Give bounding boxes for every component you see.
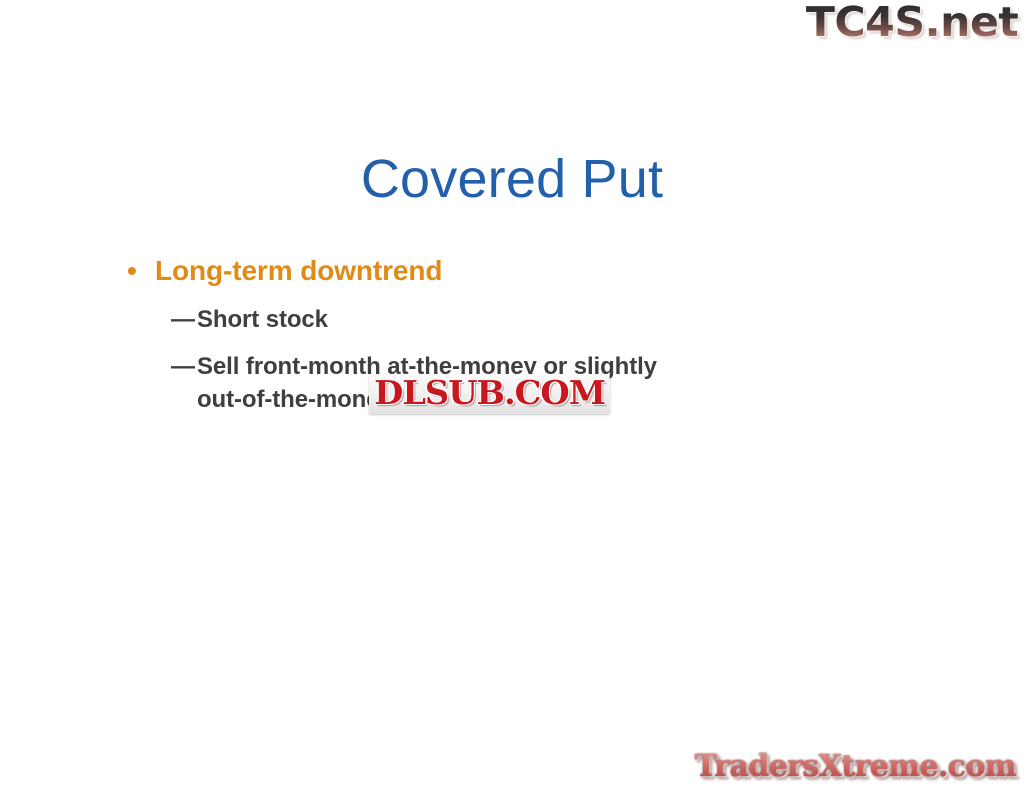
- bullet-level2-label: Short stock: [197, 306, 328, 333]
- bullet-item-level2: — Short stock: [0, 303, 700, 336]
- bullet-dot-icon: •: [127, 253, 137, 289]
- tradersxtreme-logo: TradersXtreme.com: [695, 749, 1016, 785]
- bullet-item-level1: • Long-term downtrend: [0, 253, 700, 289]
- page-title: Covered Put: [0, 148, 1024, 210]
- presentation-slide: TC4S.net Covered Put • Long-term downtre…: [0, 0, 1024, 791]
- tc4s-logo: TC4S.net: [806, 2, 1018, 43]
- dlsub-watermark: DLSUB.COM: [369, 374, 610, 414]
- em-dash-icon: —: [171, 303, 193, 336]
- em-dash-icon: —: [171, 350, 193, 383]
- bullet-level1-label: Long-term downtrend: [155, 255, 442, 286]
